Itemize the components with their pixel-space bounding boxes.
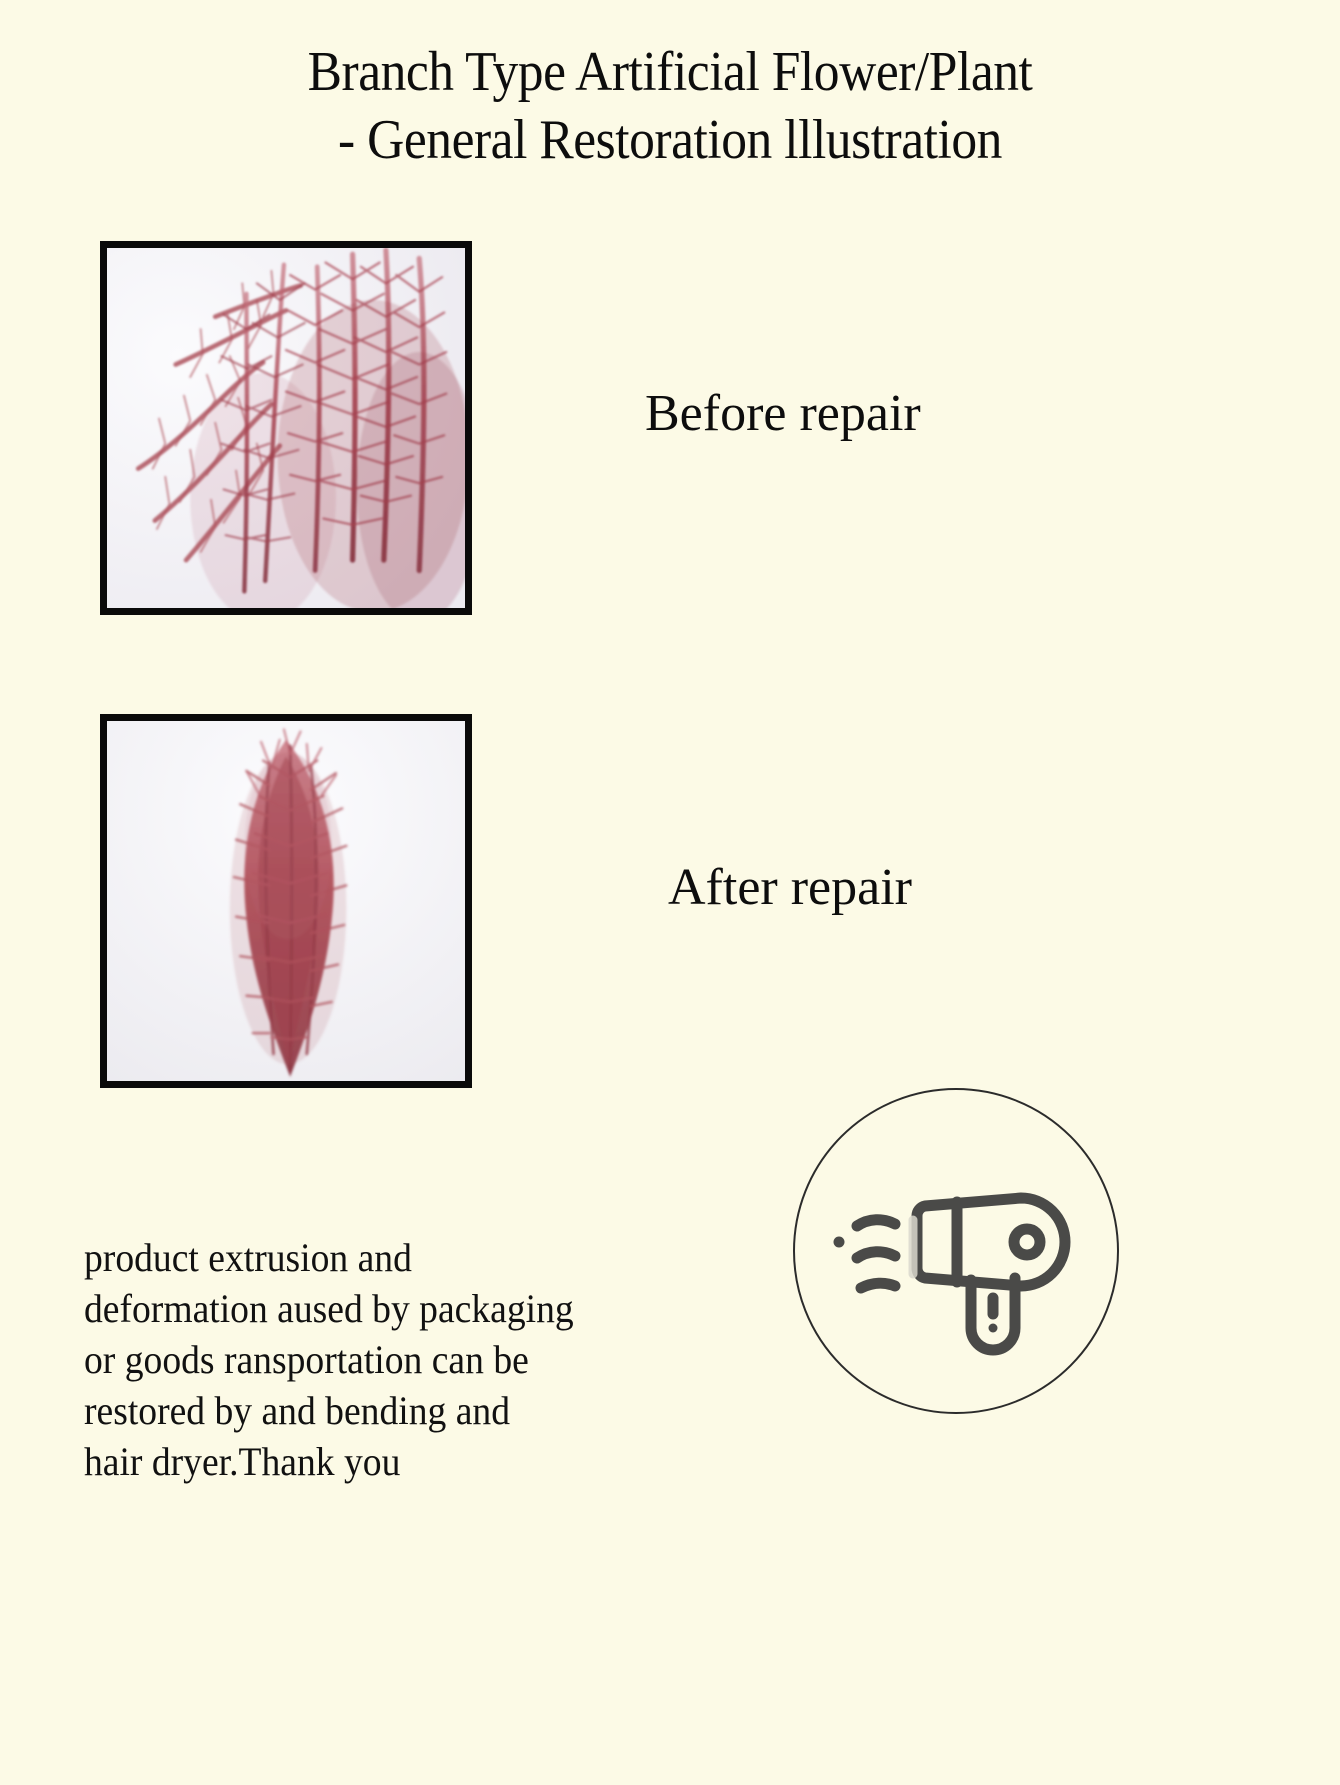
before-repair-photo-inner <box>107 248 465 608</box>
after-repair-photo-inner <box>107 721 465 1081</box>
note-line-2: deformation aused by packaging <box>84 1283 723 1334</box>
note-line-5: hair dryer.Thank you <box>84 1436 723 1487</box>
after-plume-graphic <box>107 721 465 1081</box>
before-repair-caption: Before repair <box>645 384 921 443</box>
after-repair-caption: After repair <box>668 858 912 917</box>
after-repair-photo <box>100 714 472 1088</box>
note-line-3: or goods ransportation can be <box>84 1334 723 1385</box>
note-line-1: product extrusion and <box>84 1232 723 1283</box>
hair-dryer-icon <box>821 1162 1093 1362</box>
note-line-4: restored by and bending and <box>84 1385 723 1436</box>
hair-dryer-badge <box>793 1088 1119 1414</box>
page-title: Branch Type Artificial Flower/Plant - Ge… <box>0 38 1340 174</box>
restoration-illustration-page: { "page": { "background_color": "#FCFAE6… <box>0 0 1340 1785</box>
restoration-note: product extrusion and deformation aused … <box>84 1232 764 1487</box>
before-plumes-graphic <box>107 248 465 608</box>
before-repair-photo <box>100 241 472 615</box>
page-title-line-2: - General Restoration lllustration <box>54 106 1287 174</box>
page-title-line-1: Branch Type Artificial Flower/Plant <box>54 38 1287 106</box>
